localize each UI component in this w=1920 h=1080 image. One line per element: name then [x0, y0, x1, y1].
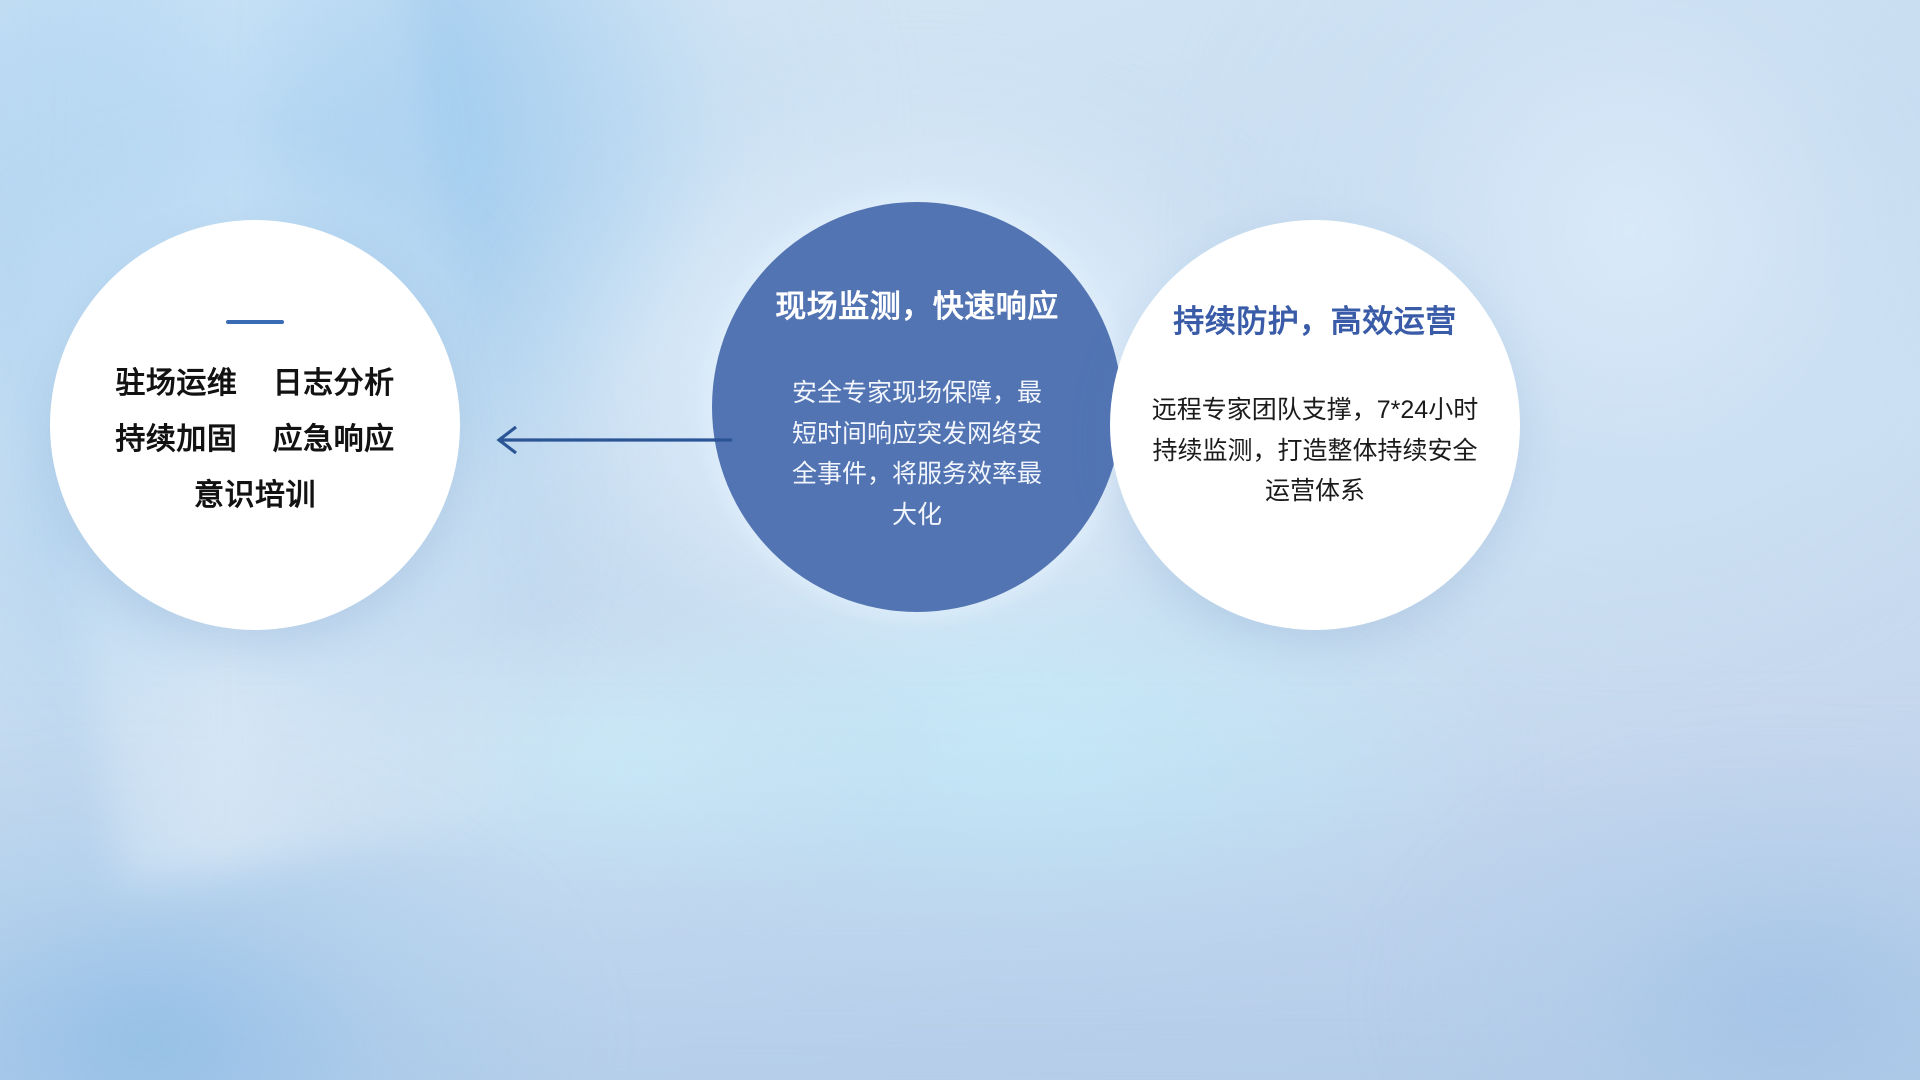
capability-tag-row-1: 驻场运维 日志分析: [50, 369, 460, 399]
capability-tag-row-3: 意识培训: [50, 481, 460, 511]
divider-dash-icon: [226, 320, 284, 324]
service-capabilities-circle: 驻场运维 日志分析 持续加固 应急响应 意识培训: [50, 220, 460, 630]
onsite-monitoring-body: 安全专家现场保障，最短时间响应突发网络安全事件，将服务效率最大化: [783, 373, 1051, 535]
arrow-left-icon: [485, 418, 735, 462]
capability-tag-row-2: 持续加固 应急响应: [50, 425, 460, 455]
slide-canvas: 驻场运维 日志分析 持续加固 应急响应 意识培训 现场监测，快速响应 安全专家现…: [0, 0, 1920, 1080]
continuous-protection-circle: 持续防护，高效运营 远程专家团队支撑，7*24小时持续监测，打造整体持续安全运营…: [1110, 220, 1520, 630]
capability-tag-list: 驻场运维 日志分析 持续加固 应急响应 意识培训: [50, 369, 460, 511]
continuous-protection-body: 远程专家团队支撑，7*24小时持续监测，打造整体持续安全运营体系: [1150, 390, 1480, 512]
onsite-monitoring-circle: 现场监测，快速响应 安全专家现场保障，最短时间响应突发网络安全事件，将服务效率最…: [712, 202, 1122, 612]
onsite-monitoring-title: 现场监测，快速响应: [775, 288, 1059, 325]
continuous-protection-title: 持续防护，高效运营: [1173, 303, 1457, 340]
